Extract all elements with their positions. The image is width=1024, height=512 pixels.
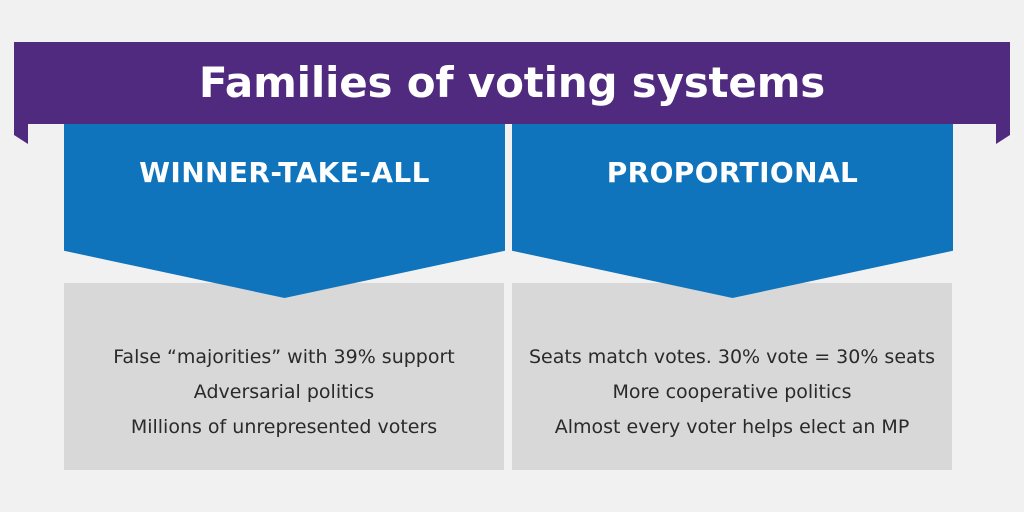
list-item: Millions of unrepresented voters — [131, 417, 437, 438]
ribbon-tail-right — [996, 124, 1010, 144]
ribbon-tail-left — [14, 124, 28, 144]
list-item: More cooperative politics — [612, 382, 851, 403]
detail-box-proportional: Seats match votes. 30% vote = 30% seats … — [512, 283, 952, 470]
list-item: False “majorities” with 39% support — [113, 347, 455, 368]
list-item: Almost every voter helps elect an MP — [555, 417, 910, 438]
category-header-proportional: PROPORTIONAL — [512, 123, 953, 298]
title-banner: Families of voting systems — [14, 42, 1010, 124]
category-header-winner-take-all: WINNER-TAKE-ALL — [64, 123, 505, 298]
voting-systems-infographic: Families of voting systems WINNER-TAKE-A… — [0, 0, 1024, 512]
list-item: Seats match votes. 30% vote = 30% seats — [529, 347, 935, 368]
detail-list-winner-take-all: False “majorities” with 39% support Adve… — [72, 347, 496, 438]
detail-box-winner-take-all: False “majorities” with 39% support Adve… — [64, 283, 504, 470]
category-label-winner-take-all: WINNER-TAKE-ALL — [64, 159, 505, 187]
list-item: Adversarial politics — [194, 382, 374, 403]
category-label-proportional: PROPORTIONAL — [512, 159, 953, 187]
page-title: Families of voting systems — [14, 42, 1010, 124]
detail-list-proportional: Seats match votes. 30% vote = 30% seats … — [520, 347, 944, 438]
